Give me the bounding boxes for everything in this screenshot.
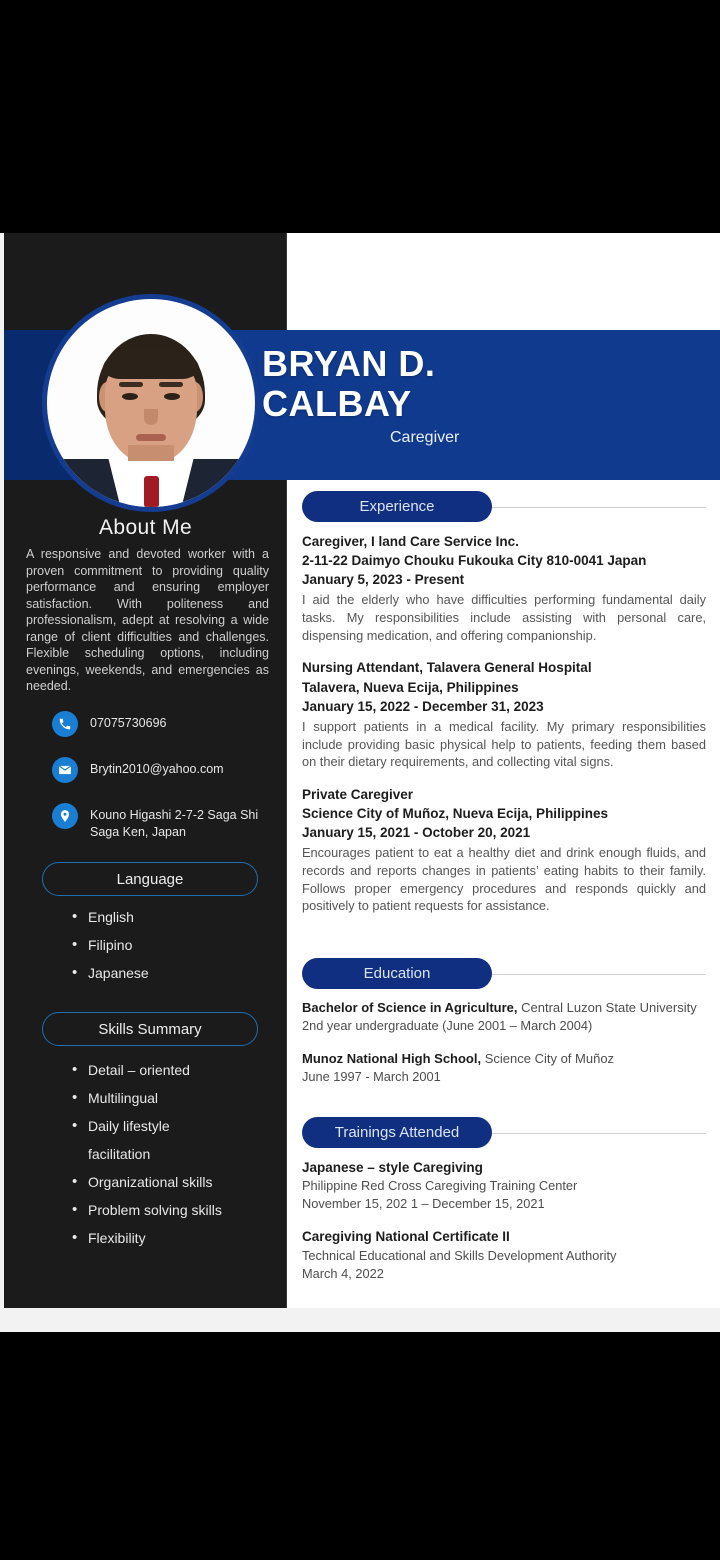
- section-divider-rule: [492, 974, 706, 975]
- address-value: Kouno Higashi 2-7-2 Saga Shi Saga Ken, J…: [90, 803, 287, 840]
- education-degree: Bachelor of Science in Agriculture,: [302, 1000, 518, 1015]
- list-item-continuation: facilitation: [72, 1145, 282, 1164]
- list-item: Daily lifestyle: [72, 1117, 282, 1136]
- education-detail: June 1997 - March 2001: [302, 1068, 706, 1086]
- trainings-section-pill[interactable]: Trainings Attended: [302, 1117, 492, 1148]
- name-block: BRYAN D. CALBAY Caregiver: [262, 344, 702, 447]
- location-icon: [52, 803, 78, 829]
- education-degree: Munoz National High School,: [302, 1051, 481, 1066]
- trainings-section: Trainings Attended Japanese – style Care…: [302, 1117, 706, 1283]
- skills-list: Detail – oriented Multilingual Daily lif…: [72, 1061, 282, 1257]
- experience-entry: Nursing Attendant, Talavera General Hosp…: [302, 658, 706, 770]
- education-institution: Science City of Muñoz: [481, 1051, 614, 1066]
- contact-row-email[interactable]: Brytin2010@yahoo.com: [52, 757, 287, 783]
- list-item: Detail – oriented: [72, 1061, 282, 1080]
- contact-row-address[interactable]: Kouno Higashi 2-7-2 Saga Shi Saga Ken, J…: [52, 803, 287, 840]
- about-me-text: A responsive and devoted worker with a p…: [26, 546, 269, 695]
- first-name: BRYAN D.: [262, 344, 702, 384]
- experience-entry: Caregiver, I land Care Service Inc. 2-11…: [302, 532, 706, 644]
- portrait-brow-right: [159, 382, 183, 387]
- about-me-heading: About Me: [4, 516, 287, 540]
- portrait-fringe: [103, 349, 199, 379]
- section-divider-rule: [492, 507, 706, 508]
- education-institution: Central Luzon State University: [518, 1000, 697, 1015]
- training-provider: Philippine Red Cross Caregiving Training…: [302, 1177, 706, 1195]
- experience-job-dates: January 15, 2022 - December 31, 2023: [302, 697, 706, 716]
- education-entry: Bachelor of Science in Agriculture, Cent…: [302, 999, 706, 1036]
- portrait-necktie: [144, 476, 159, 507]
- education-detail: 2nd year undergraduate (June 2001 – Marc…: [302, 1017, 706, 1035]
- email-icon: [52, 757, 78, 783]
- experience-entry: Private Caregiver Science City of Muñoz,…: [302, 785, 706, 915]
- training-entry: Caregiving National Certificate II Techn…: [302, 1227, 706, 1282]
- list-item: English: [72, 908, 282, 927]
- education-section-pill[interactable]: Education: [302, 958, 492, 989]
- experience-job-location: 2-11-22 Daimyo Chouku Fukouka City 810-0…: [302, 551, 706, 570]
- resume-document: About Me A responsive and devoted worker…: [4, 233, 720, 1308]
- trainings-header: Trainings Attended: [302, 1117, 706, 1148]
- email-value: Brytin2010@yahoo.com: [90, 757, 224, 778]
- last-name: CALBAY: [262, 384, 702, 424]
- experience-job-location: Talavera, Nueva Ecija, Philippines: [302, 678, 706, 697]
- experience-job-dates: January 15, 2021 - October 20, 2021: [302, 823, 706, 842]
- experience-job-title: Caregiver, I land Care Service Inc.: [302, 532, 706, 551]
- experience-header: Experience: [302, 491, 706, 522]
- list-item: Organizational skills: [72, 1173, 282, 1192]
- training-title: Japanese – style Caregiving: [302, 1158, 706, 1177]
- education-section: Education Bachelor of Science in Agricul…: [302, 958, 706, 1086]
- language-section-pill[interactable]: Language: [42, 862, 258, 896]
- list-item: Japanese: [72, 964, 282, 983]
- experience-job-description: I support patients in a medical facility…: [302, 718, 706, 771]
- education-degree-line: Bachelor of Science in Agriculture, Cent…: [302, 999, 706, 1017]
- experience-job-title: Nursing Attendant, Talavera General Hosp…: [302, 658, 706, 677]
- phone-value: 07075730696: [90, 711, 166, 732]
- avatar: [42, 294, 260, 512]
- contact-row-phone[interactable]: 07075730696: [52, 711, 287, 737]
- education-header: Education: [302, 958, 706, 989]
- training-title: Caregiving National Certificate II: [302, 1227, 706, 1246]
- section-divider-rule: [492, 1133, 706, 1134]
- list-item: Flexibility: [72, 1229, 282, 1248]
- experience-job-title: Private Caregiver: [302, 785, 706, 804]
- list-item: Filipino: [72, 936, 282, 955]
- portrait-eye-left: [122, 393, 138, 400]
- list-item: Multilingual: [72, 1089, 282, 1108]
- experience-job-description: Encourages patient to eat a healthy diet…: [302, 844, 706, 915]
- portrait-nose: [144, 409, 158, 425]
- experience-job-location: Science City of Muñoz, Nueva Ecija, Phil…: [302, 804, 706, 823]
- experience-section-pill[interactable]: Experience: [302, 491, 492, 522]
- training-dates: November 15, 202 1 – December 15, 2021: [302, 1195, 706, 1213]
- portrait-brow-left: [119, 382, 143, 387]
- portrait-mouth: [136, 434, 166, 441]
- profile-photo: [47, 299, 255, 507]
- experience-section: Experience Caregiver, I land Care Servic…: [302, 491, 706, 915]
- phone-icon: [52, 711, 78, 737]
- skills-summary-section-pill[interactable]: Skills Summary: [42, 1012, 258, 1046]
- training-provider: Technical Educational and Skills Develop…: [302, 1247, 706, 1265]
- education-degree-line: Munoz National High School, Science City…: [302, 1050, 706, 1068]
- portrait-eye-right: [164, 393, 180, 400]
- job-role: Caregiver: [390, 429, 702, 447]
- list-item: Problem solving skills: [72, 1201, 282, 1220]
- training-dates: March 4, 2022: [302, 1265, 706, 1283]
- screenshot-canvas: About Me A responsive and devoted worker…: [0, 0, 720, 1560]
- contact-list: 07075730696 Brytin2010@yahoo.com: [52, 711, 287, 860]
- education-entry: Munoz National High School, Science City…: [302, 1050, 706, 1087]
- experience-job-description: I aid the elderly who have difficulties …: [302, 591, 706, 644]
- language-list: English Filipino Japanese: [72, 908, 282, 992]
- training-entry: Japanese – style Caregiving Philippine R…: [302, 1158, 706, 1213]
- experience-job-dates: January 5, 2023 - Present: [302, 570, 706, 589]
